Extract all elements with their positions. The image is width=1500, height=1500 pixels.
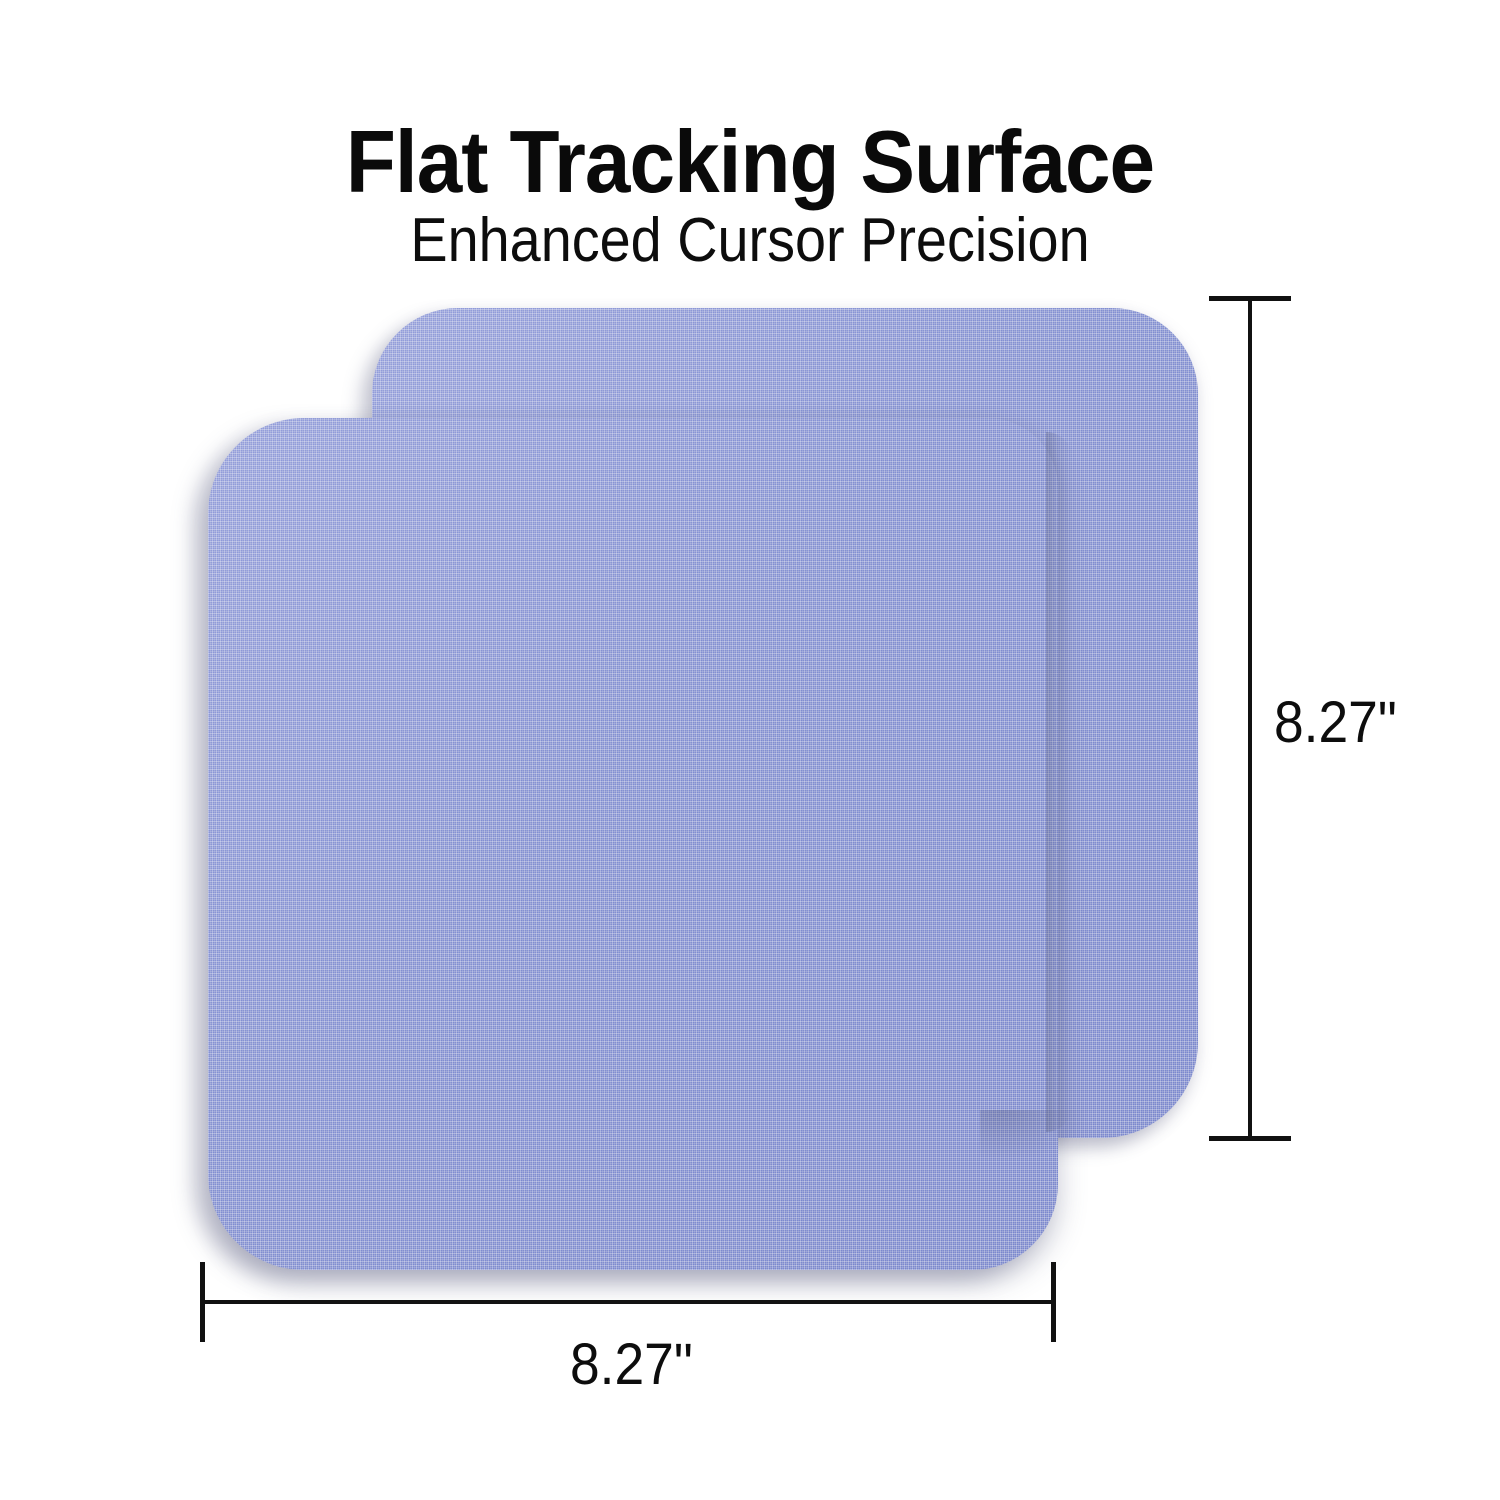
- width-dimension-line: [202, 1300, 1056, 1304]
- width-dimension-cap-right: [1051, 1262, 1056, 1342]
- width-dimension-cap-left: [200, 1262, 205, 1342]
- height-dimension-line: [1248, 298, 1252, 1140]
- mouse-pad-front: [208, 418, 1058, 1270]
- page-subtitle: Enhanced Cursor Precision: [75, 208, 1425, 274]
- product-image-canvas: Flat Tracking Surface Enhanced Cursor Pr…: [0, 0, 1500, 1500]
- height-dimension-cap-bottom: [1209, 1136, 1291, 1141]
- page-title: Flat Tracking Surface: [53, 116, 1448, 208]
- height-dimension-label: 8.27": [1274, 694, 1397, 752]
- width-dimension-label: 8.27": [570, 1336, 693, 1394]
- height-dimension-cap-top: [1209, 296, 1291, 301]
